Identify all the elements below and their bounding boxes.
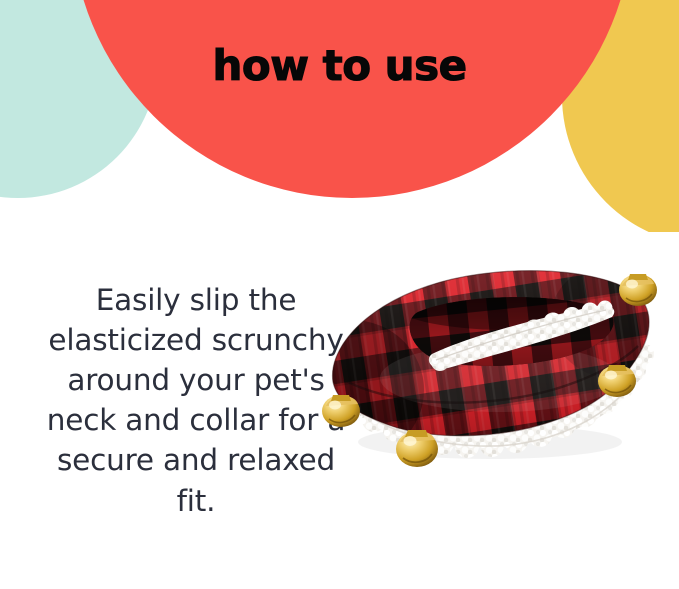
plaid-collar-scrunchy-illustration: [300, 250, 679, 490]
jingle-bell-left: [322, 395, 360, 427]
decorative-banner: how to use: [0, 0, 679, 232]
product-image: [300, 250, 679, 490]
page-title: how to use: [0, 44, 679, 88]
jingle-bell-right: [619, 274, 657, 306]
jingle-bell-right-lower: [598, 365, 636, 397]
content-section: Easily slip the elasticized scrunchy aro…: [0, 232, 679, 589]
how-to-use-infographic: how to use Easily slip the elasticized s…: [0, 0, 679, 589]
